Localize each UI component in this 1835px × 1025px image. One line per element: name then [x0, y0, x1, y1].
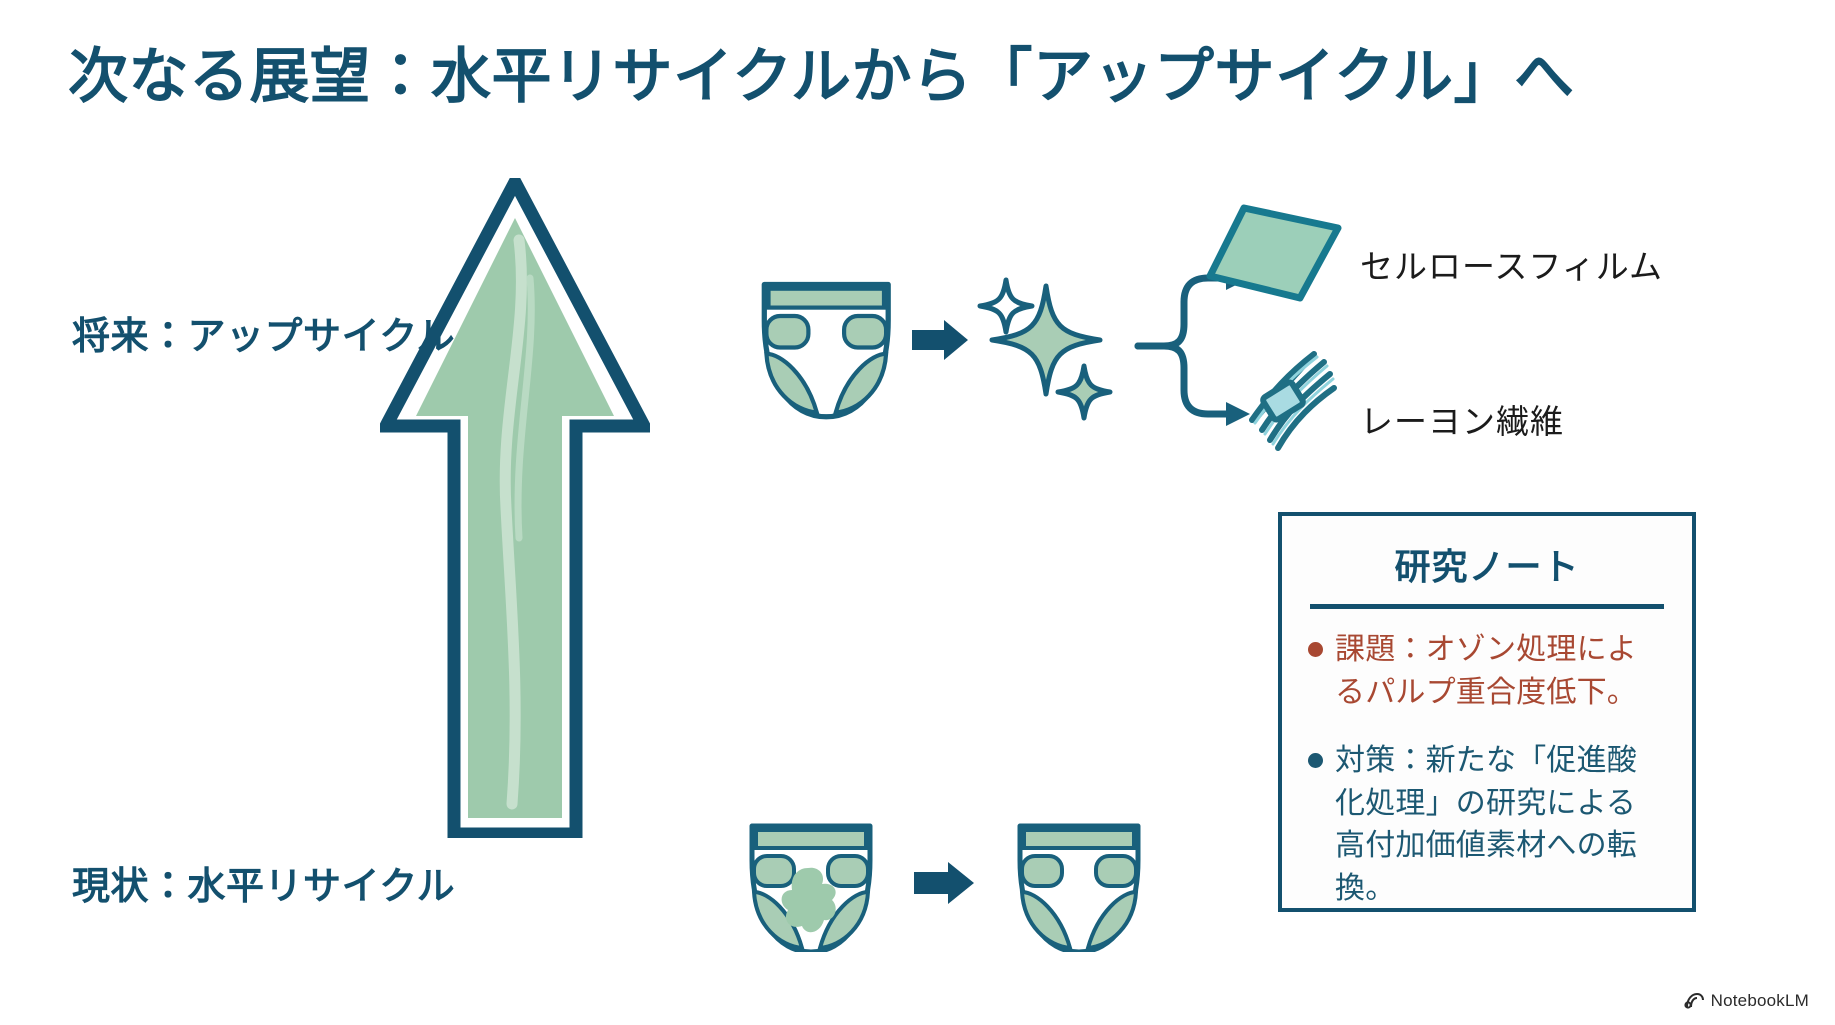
product-label-cellulose-film: セルロースフィルム — [1360, 240, 1663, 288]
note-item-challenge: 課題：オゾン処理によるパルプ重合度低下。 — [1308, 629, 1666, 714]
upward-progress-arrow-icon — [380, 178, 650, 838]
note-item-solution-text: 対策：新たな「促進酸化処理」の研究による高付加価値素材への転換。 — [1335, 740, 1666, 910]
bullet-icon — [1308, 642, 1323, 657]
research-note-card: 研究ノート 課題：オゾン処理によるパルプ重合度低下。 対策：新たな「促進酸化処理… — [1278, 512, 1696, 912]
rayon-fiber-icon — [1218, 348, 1358, 463]
notebooklm-icon — [1684, 992, 1704, 1010]
diaper-clean-icon — [1020, 826, 1138, 952]
note-item-challenge-text: 課題：オゾン処理によるパルプ重合度低下。 — [1335, 629, 1666, 714]
page-title: 次なる展望：水平リサイクルから「アップサイクル」へ — [68, 42, 1768, 111]
slide-canvas: 次なる展望：水平リサイクルから「アップサイクル」へ 将来：アップサイクル 現状：… — [0, 0, 1835, 1025]
right-arrow-icon — [914, 862, 974, 904]
cellulose-film-icon — [1204, 200, 1344, 305]
diaper-clean-icon — [764, 285, 888, 417]
bullet-icon — [1308, 753, 1323, 768]
product-label-rayon-fiber: レーヨン繊維 — [1360, 395, 1564, 443]
notebooklm-logo: NotebookLM — [1684, 991, 1809, 1011]
diaper-used-icon — [752, 826, 870, 952]
stage-label-current: 現状：水平リサイクル — [72, 855, 455, 910]
right-arrow-icon — [912, 320, 968, 360]
horizontal-recycle-flow-group — [742, 812, 1162, 952]
note-divider — [1310, 604, 1664, 609]
note-item-solution: 対策：新たな「促進酸化処理」の研究による高付加価値素材への転換。 — [1308, 740, 1666, 910]
notebooklm-label: NotebookLM — [1711, 991, 1809, 1011]
research-note-title: 研究ノート — [1308, 538, 1666, 590]
sparkle-icon — [980, 280, 1110, 418]
